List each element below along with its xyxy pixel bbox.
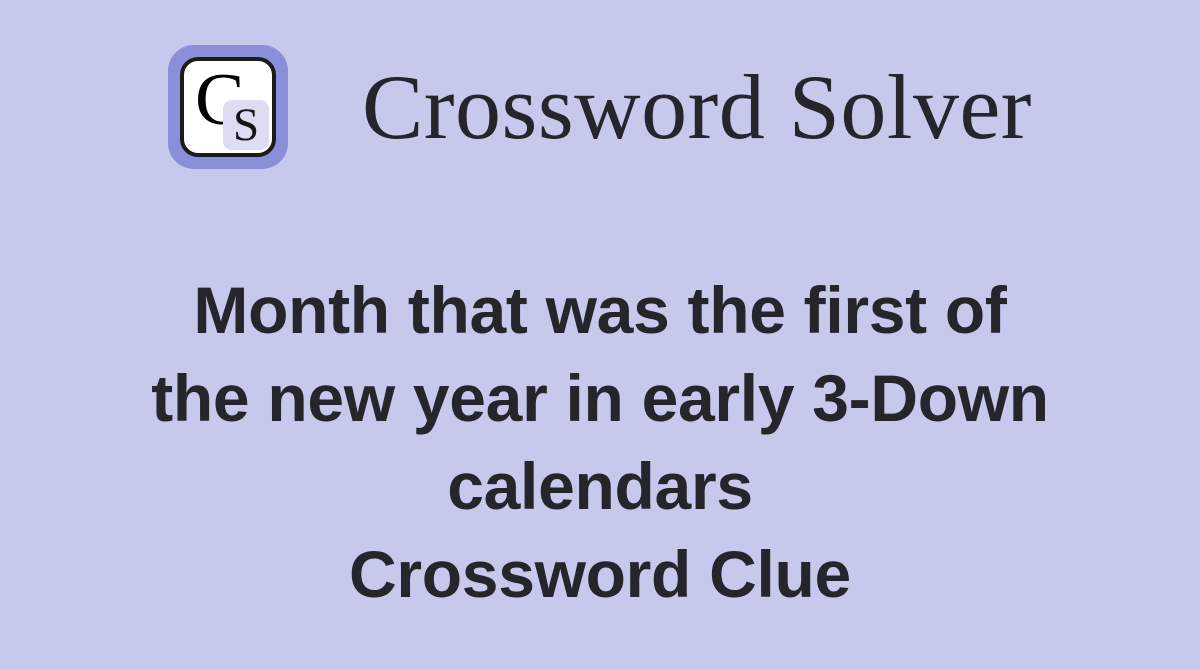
brand-header[interactable]: C S Crossword Solver [0, 38, 1200, 176]
clue-line-suffix: Crossword Clue [50, 530, 1150, 618]
clue-line: Month that was the first of [50, 266, 1150, 354]
brand-title[interactable]: Crossword Solver [362, 57, 1032, 157]
crossword-solver-logo[interactable]: C S [168, 38, 288, 176]
logo-letter-s: S [230, 101, 262, 149]
page-title: Month that was the first of the new year… [50, 266, 1150, 618]
logo-letter-tile: C S [180, 57, 276, 157]
clue-line: calendars [50, 442, 1150, 530]
crossword-clue-page: C S Crossword Solver Month that was the … [0, 0, 1200, 670]
clue-line: the new year in early 3-Down [50, 354, 1150, 442]
